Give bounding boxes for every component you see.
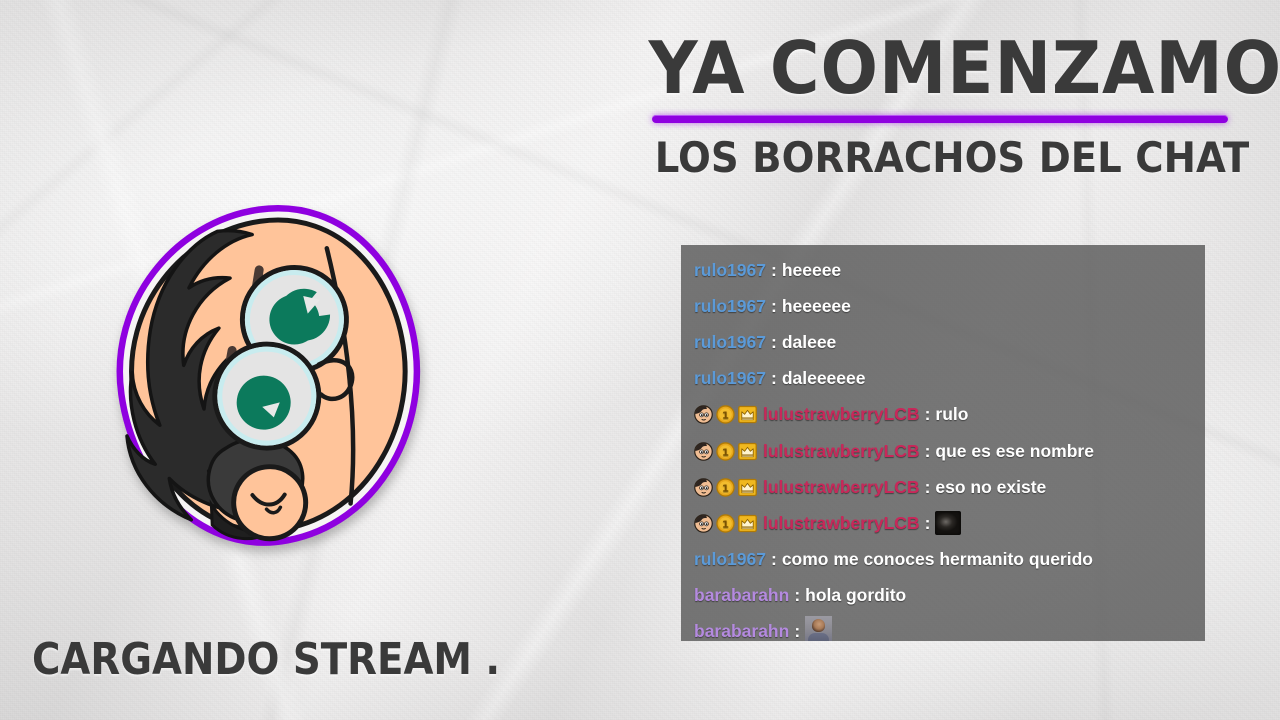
chat-separator: : xyxy=(925,441,931,462)
viewer-face-icon xyxy=(694,478,713,497)
chat-message-row: 1lulustrawberryLCB:que es ese nombre xyxy=(694,433,1205,469)
page-title: YA COMENZAMOS xyxy=(649,34,1232,103)
chat-message-text: hola gordito xyxy=(805,585,906,606)
chat-message-text: como me conoces hermanito querido xyxy=(782,549,1093,570)
svg-text:1: 1 xyxy=(722,411,729,422)
chat-message-row: 1lulustrawberryLCB: xyxy=(694,505,1205,541)
crown-icon xyxy=(738,405,757,424)
chat-message-text: heeeeee xyxy=(782,296,851,317)
chat-username[interactable]: barabarahn xyxy=(694,621,789,641)
svg-text:1: 1 xyxy=(722,447,729,458)
chat-message-row: rulo1967:daleeeeee xyxy=(694,361,1205,397)
svg-text:1: 1 xyxy=(722,520,729,531)
chat-message-text: rulo xyxy=(935,404,968,425)
chat-badge-group: 1 xyxy=(694,478,757,497)
chat-separator: : xyxy=(771,549,777,570)
chat-username[interactable]: lulustrawberryLCB xyxy=(763,477,920,498)
subscriber-1-month-icon: 1 xyxy=(716,405,735,424)
chat-message-text: que es ese nombre xyxy=(935,441,1094,462)
chat-message-list: rulo1967:heeeeerulo1967:heeeeeerulo1967:… xyxy=(681,245,1205,641)
person-emote-icon xyxy=(805,616,832,641)
subscriber-1-month-icon: 1 xyxy=(716,442,735,461)
chat-message-row: rulo1967:heeeeee xyxy=(694,288,1205,324)
chat-separator: : xyxy=(771,260,777,281)
crown-icon xyxy=(738,442,757,461)
title-divider xyxy=(652,115,1228,123)
crown-icon xyxy=(738,478,757,497)
chat-message-row: rulo1967:heeeee xyxy=(694,252,1205,288)
dark-emote-icon xyxy=(935,511,961,535)
chat-message-text: daleee xyxy=(782,332,836,353)
chat-message-text: heeeee xyxy=(782,260,841,281)
svg-text:1: 1 xyxy=(722,483,729,494)
chat-separator: : xyxy=(925,477,931,498)
chat-username[interactable]: lulustrawberryLCB xyxy=(763,441,920,462)
subscriber-1-month-icon: 1 xyxy=(716,514,735,533)
chat-message-row: rulo1967:daleee xyxy=(694,324,1205,360)
chat-username[interactable]: lulustrawberryLCB xyxy=(763,513,920,534)
chat-username[interactable]: rulo1967 xyxy=(694,296,766,317)
chat-message-text: daleeeeee xyxy=(782,368,866,389)
chat-badge-group: 1 xyxy=(694,405,757,424)
chat-separator: : xyxy=(771,368,777,389)
chat-separator: : xyxy=(794,585,800,606)
chat-username[interactable]: rulo1967 xyxy=(694,368,766,389)
chat-message-row: barabarahn:hola gordito xyxy=(694,578,1205,614)
chat-separator: : xyxy=(794,621,800,641)
chat-separator: : xyxy=(771,296,777,317)
stream-overlay-stage: YA COMENZAMOS LOS BORRACHOS DEL CHAT CAR… xyxy=(0,0,1280,720)
chat-message-row: 1lulustrawberryLCB:rulo xyxy=(694,397,1205,433)
viewer-face-icon xyxy=(694,405,713,424)
chat-username[interactable]: barabarahn xyxy=(694,585,789,606)
chat-username[interactable]: rulo1967 xyxy=(694,260,766,281)
title-block: YA COMENZAMOS LOS BORRACHOS DEL CHAT xyxy=(630,34,1250,179)
chat-message-row: rulo1967:como me conoces hermanito queri… xyxy=(694,542,1205,578)
loading-status-text: CARGANDO STREAM . xyxy=(32,634,500,685)
viewer-face-icon xyxy=(694,514,713,533)
crown-icon xyxy=(738,514,757,533)
chat-message-text: eso no existe xyxy=(935,477,1046,498)
chat-badge-group: 1 xyxy=(694,514,757,533)
chat-message-row: barabarahn: xyxy=(694,614,1205,641)
chat-username[interactable]: rulo1967 xyxy=(694,332,766,353)
chat-username[interactable]: lulustrawberryLCB xyxy=(763,404,920,425)
chat-separator: : xyxy=(925,404,931,425)
viewer-face-icon xyxy=(694,442,713,461)
cartoon-head-sticker xyxy=(86,196,426,556)
subscriber-1-month-icon: 1 xyxy=(716,478,735,497)
chat-separator: : xyxy=(925,513,931,534)
chat-message-row: 1lulustrawberryLCB:eso no existe xyxy=(694,469,1205,505)
chat-badge-group: 1 xyxy=(694,442,757,461)
chat-separator: : xyxy=(771,332,777,353)
page-subtitle: LOS BORRACHOS DEL CHAT xyxy=(655,137,1225,179)
chat-username[interactable]: rulo1967 xyxy=(694,549,766,570)
chat-overlay-panel: rulo1967:heeeeerulo1967:heeeeeerulo1967:… xyxy=(681,245,1205,641)
